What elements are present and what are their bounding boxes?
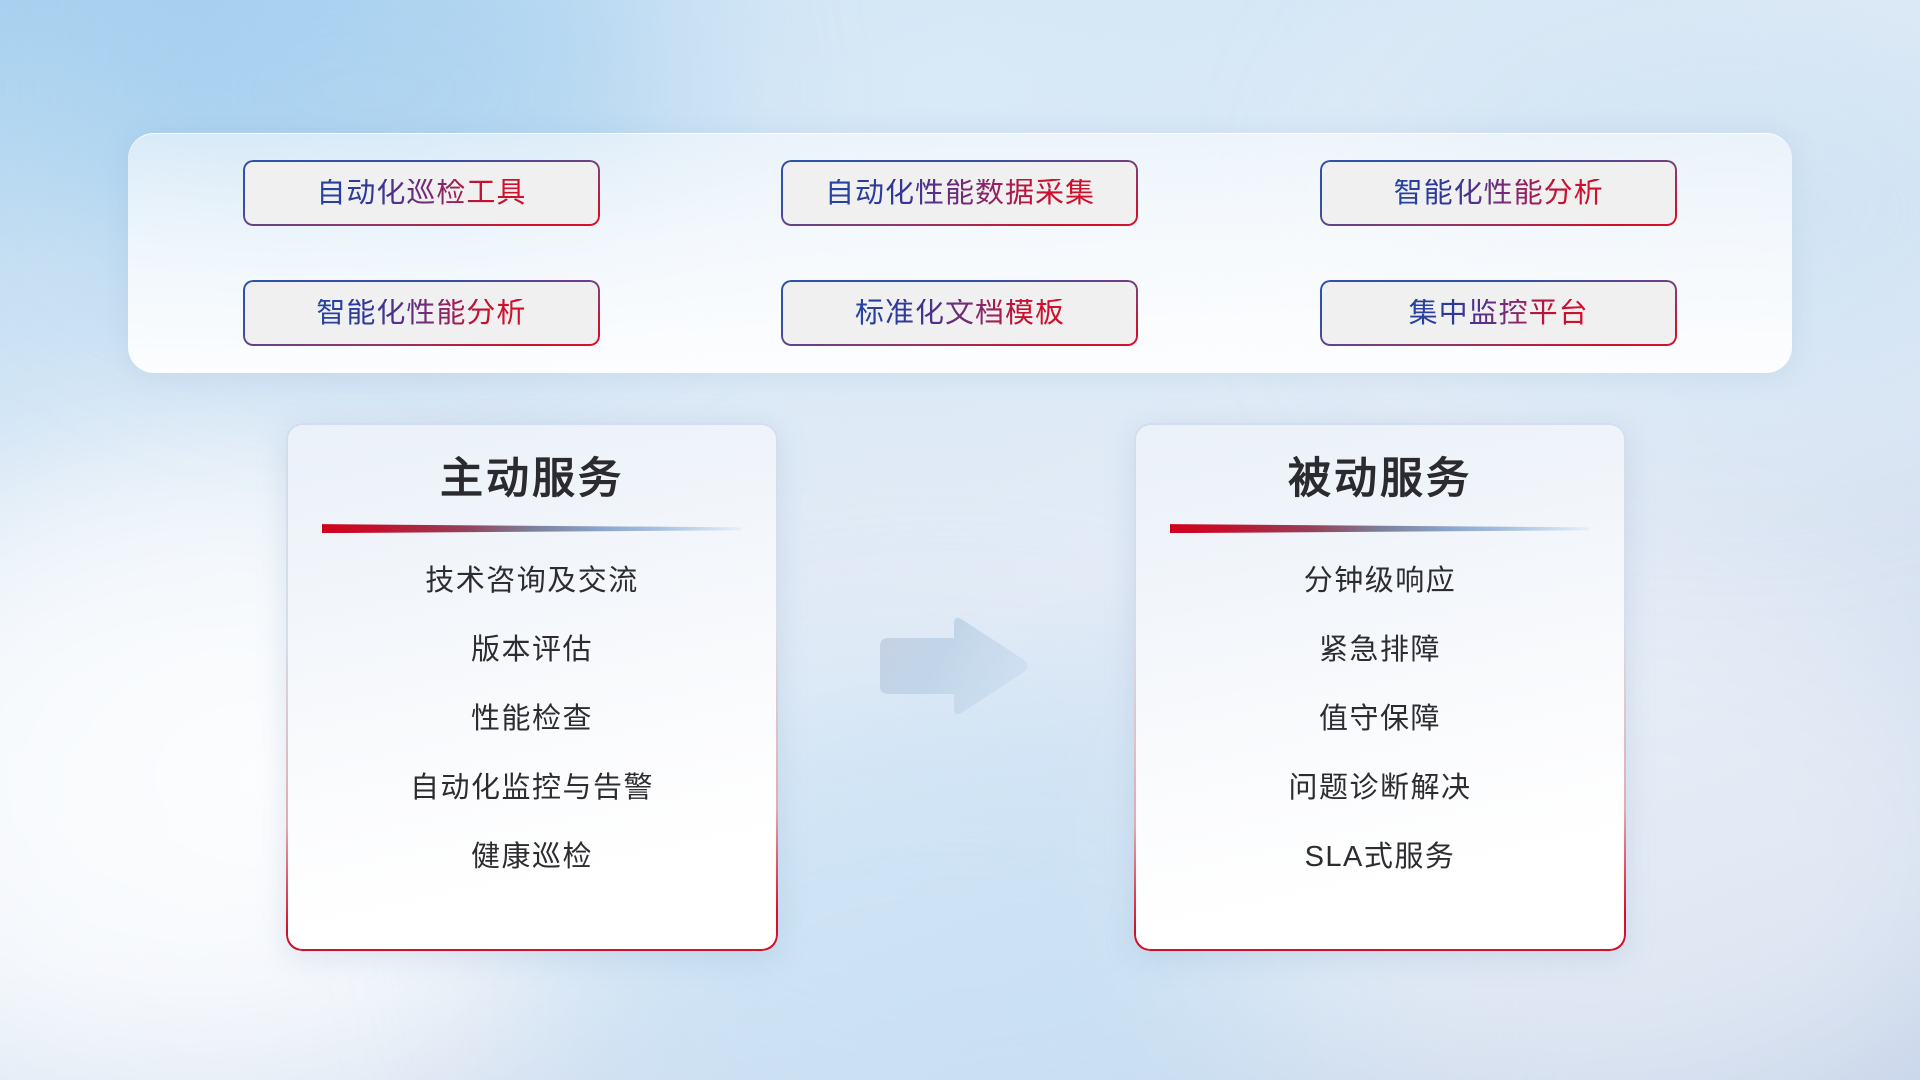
capability-panel: 自动化巡检工具 自动化性能数据采集 智能化性能分析 智能化性能分析 标准化文档模… (128, 133, 1792, 373)
capability-pill-5[interactable]: 标准化文档模板 (781, 280, 1138, 346)
list-item: 自动化监控与告警 (322, 774, 742, 803)
page-title: 被动服务 (1170, 457, 1590, 502)
list-item: 值守保障 (1170, 705, 1590, 734)
list-item: 技术咨询及交流 (322, 567, 742, 596)
capability-pill-label: 自动化巡检工具 (316, 179, 526, 208)
page-title: 主动服务 (322, 457, 742, 502)
capability-pill-2[interactable]: 自动化性能数据采集 (781, 160, 1138, 226)
arrow-right-icon (872, 612, 1032, 720)
slide-canvas: 自动化巡检工具 自动化性能数据采集 智能化性能分析 智能化性能分析 标准化文档模… (0, 0, 1920, 1080)
list-item: 健康巡检 (322, 843, 742, 872)
card-divider (322, 524, 742, 533)
capability-pill-4[interactable]: 智能化性能分析 (243, 280, 600, 346)
list-item: 紧急排障 (1170, 636, 1590, 665)
capability-pill-label: 集中监控平台 (1409, 299, 1589, 328)
capability-pill-6[interactable]: 集中监控平台 (1320, 280, 1677, 346)
service-card-proactive: 主动服务 技术咨询及交流 版本评估 性能检查 自动化监控与告警 健康巡检 (286, 423, 778, 951)
list-item: 性能检查 (322, 705, 742, 734)
list-item: 版本评估 (322, 636, 742, 665)
capability-pill-label: 自动化性能数据采集 (825, 179, 1095, 208)
service-card-reactive: 被动服务 分钟级响应 紧急排障 值守保障 问题诊断解决 SLA式服务 (1134, 423, 1626, 951)
card-divider (1170, 524, 1590, 533)
service-item-list: 分钟级响应 紧急排障 值守保障 问题诊断解决 SLA式服务 (1170, 567, 1590, 872)
capability-pill-label: 智能化性能分析 (1394, 179, 1604, 208)
list-item: 分钟级响应 (1170, 567, 1590, 596)
list-item: 问题诊断解决 (1170, 774, 1590, 803)
capability-pill-3[interactable]: 智能化性能分析 (1320, 160, 1677, 226)
service-item-list: 技术咨询及交流 版本评估 性能检查 自动化监控与告警 健康巡检 (322, 567, 742, 872)
capability-pill-label: 标准化文档模板 (855, 299, 1065, 328)
capability-pill-1[interactable]: 自动化巡检工具 (243, 160, 600, 226)
list-item: SLA式服务 (1170, 843, 1590, 872)
capability-pill-label: 智能化性能分析 (316, 299, 526, 328)
